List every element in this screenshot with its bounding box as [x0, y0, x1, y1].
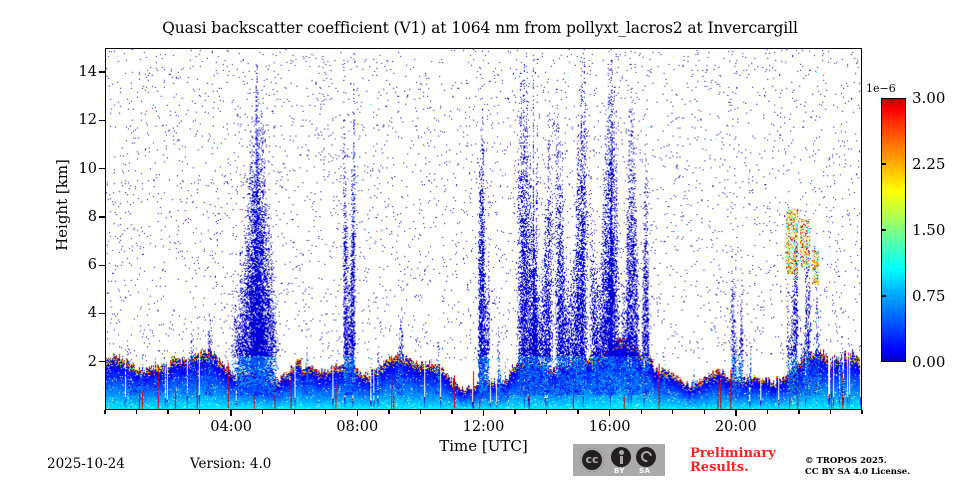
- colorbar-tick-label: 0.75: [912, 287, 945, 305]
- x-tick-mark-minor: [861, 410, 862, 414]
- colorbar-tick-mark: [881, 295, 886, 296]
- by-head-icon: [619, 450, 624, 455]
- x-tick-mark-minor: [420, 410, 421, 414]
- x-tick-mark-minor: [546, 410, 547, 414]
- x-tick-mark-minor: [262, 410, 263, 414]
- x-tick-mark-minor: [388, 410, 389, 414]
- y-axis-label: Height [km]: [53, 135, 71, 275]
- x-tick-mark-minor: [704, 410, 705, 414]
- x-tick-mark-minor: [767, 410, 768, 414]
- colorbar-tick-mark: [881, 163, 886, 164]
- copyright-line-1: © TROPOS 2025.: [805, 456, 910, 467]
- x-tick-mark-minor: [136, 410, 137, 414]
- preliminary-line-2: Results.: [690, 461, 776, 475]
- x-tick-label: 20:00: [696, 419, 776, 435]
- y-tick-mark: [99, 168, 105, 169]
- x-tick-mark-minor: [672, 410, 673, 414]
- y-tick-label: 12: [57, 112, 97, 128]
- x-tick-mark-minor: [294, 410, 295, 414]
- preliminary-line-1: Preliminary: [690, 447, 776, 461]
- colorbar-tick-mark: [881, 229, 886, 230]
- cc-letters: cc: [586, 454, 599, 466]
- y-tick-mark: [99, 71, 105, 72]
- x-tick-mark-major: [735, 410, 736, 416]
- y-tick-label: 6: [57, 257, 97, 273]
- y-tick-mark: [99, 120, 105, 121]
- creative-commons-badge-icon[interactable]: cc BY SA: [573, 444, 665, 476]
- y-tick-mark: [99, 361, 105, 362]
- x-tick-mark-major: [357, 410, 358, 416]
- x-tick-mark-minor: [199, 410, 200, 414]
- colorbar-tick-label: 3.00: [912, 89, 945, 107]
- plot-area: [105, 48, 862, 410]
- colorbar-tick-label: 0.00: [912, 353, 945, 371]
- x-tick-mark-major: [230, 410, 231, 416]
- x-tick-mark-minor: [830, 410, 831, 414]
- cc-badge-glyphs: cc BY SA: [573, 444, 665, 476]
- x-tick-mark-major: [609, 410, 610, 416]
- x-tick-mark-minor: [514, 410, 515, 414]
- tropos-copyright: © TROPOS 2025. CC BY SA 4.0 License.: [805, 456, 910, 477]
- y-tick-mark: [99, 216, 105, 217]
- page-title: Quasi backscatter coefficient (V1) at 10…: [0, 19, 960, 37]
- colorbar-tick-label: 1.50: [912, 221, 945, 239]
- cc-sa-label: SA: [639, 467, 650, 475]
- x-tick-label: 04:00: [191, 419, 271, 435]
- preliminary-results-notice: Preliminary Results.: [690, 447, 776, 475]
- y-tick-label: 8: [57, 209, 97, 225]
- footer-date: 2025-10-24: [47, 456, 125, 472]
- x-tick-mark-minor: [325, 410, 326, 414]
- x-tick-label: 16:00: [570, 419, 650, 435]
- footer-version: Version: 4.0: [190, 456, 271, 472]
- x-tick-mark-minor: [798, 410, 799, 414]
- y-tick-label: 4: [57, 305, 97, 321]
- x-tick-mark-major: [483, 410, 484, 416]
- y-tick-mark: [99, 265, 105, 266]
- x-tick-mark-minor: [451, 410, 452, 414]
- heatmap-canvas: [106, 49, 861, 409]
- x-tick-mark-minor: [167, 410, 168, 414]
- y-tick-label: 14: [57, 64, 97, 80]
- cc-by-label: BY: [614, 467, 625, 475]
- y-tick-mark: [99, 313, 105, 314]
- x-tick-mark-minor: [641, 410, 642, 414]
- copyright-line-2: CC BY SA 4.0 License.: [805, 467, 910, 478]
- colorbar-tick-label: 2.25: [912, 155, 945, 173]
- x-tick-mark-minor: [104, 410, 105, 414]
- y-tick-label: 2: [57, 354, 97, 370]
- colorbar-exponent-label: 1e−6: [866, 82, 896, 95]
- x-tick-label: 12:00: [444, 419, 524, 435]
- lidar-quicklook-figure: Quasi backscatter coefficient (V1) at 10…: [0, 0, 960, 480]
- x-tick-mark-minor: [577, 410, 578, 414]
- y-tick-label: 10: [57, 161, 97, 177]
- by-body-icon: [620, 456, 623, 464]
- x-tick-label: 08:00: [317, 419, 397, 435]
